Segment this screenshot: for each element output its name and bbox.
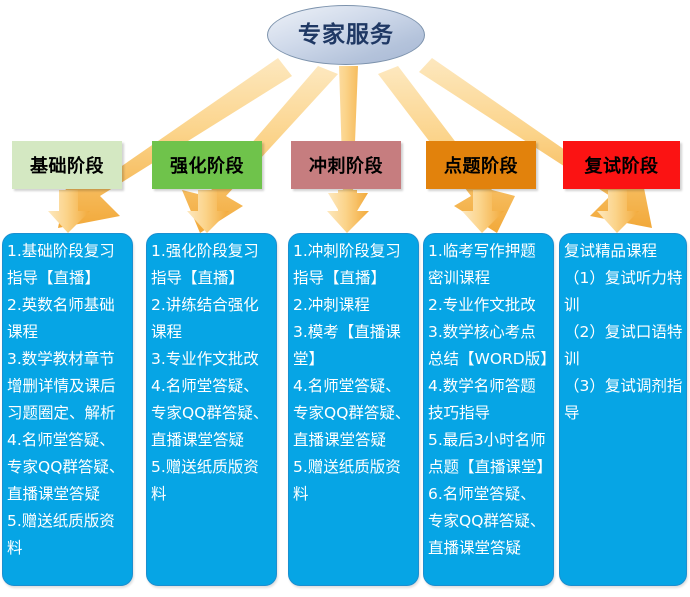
content-box-reexam: 复试精品课程 （1）复试听力特训 （2）复试口语特训 （3）复试调剂指导 [559, 233, 687, 586]
content-item: 4.名师堂答疑、专家QQ群答疑、直播课堂答疑 [293, 373, 415, 454]
stage-box-sprint[interactable]: 冲刺阶段 [291, 141, 401, 189]
content-item: 3.数学核心考点总结【WORD版】 [428, 319, 550, 373]
stage-label: 点题阶段 [444, 152, 518, 178]
content-box-intensive: 1.强化阶段复习指导【直播】 2.讲练结合强化课程 3.专业作文批改 4.名师堂… [146, 233, 277, 586]
content-item: 复试精品课程 [564, 238, 683, 265]
content-item: 1.临考写作押题密训课程 [428, 238, 550, 292]
content-item: 5.赠送纸质版资料 [7, 508, 129, 562]
diagram-canvas: 专家服务 基础阶段 强化阶段 冲刺阶段 点题阶段 复试阶段 1.基础阶段复习指导… [0, 0, 690, 597]
root-node-expert-service: 专家服务 [267, 5, 425, 65]
content-item: 2.冲刺课程 [293, 292, 415, 319]
stage-box-reexam[interactable]: 复试阶段 [563, 141, 680, 189]
content-item: 4.数学名师答题技巧指导 [428, 373, 550, 427]
content-item: 2.讲练结合强化课程 [151, 292, 273, 346]
stage-label: 冲刺阶段 [309, 152, 383, 178]
content-box-sprint: 1.冲刺阶段复习指导【直播】 2.冲刺课程 3.模考【直播课堂】 4.名师堂答疑… [288, 233, 419, 586]
stage-label: 强化阶段 [170, 152, 244, 178]
root-node-label: 专家服务 [298, 24, 394, 47]
stage-label: 基础阶段 [30, 152, 104, 178]
content-item: （1）复试听力特训 [564, 265, 683, 319]
content-item: 4.名师堂答疑、专家QQ群答疑、直播课堂答疑 [151, 373, 273, 454]
content-box-foundation: 1.基础阶段复习指导【直播】 2.英数名师基础课程 3.数学教材章节增删详情及课… [2, 233, 133, 586]
content-item: 1.冲刺阶段复习指导【直播】 [293, 238, 415, 292]
content-item: 6.名师堂答疑、专家QQ群答疑、直播课堂答疑 [428, 481, 550, 562]
content-item: 1.基础阶段复习指导【直播】 [7, 238, 129, 292]
content-item: 3.模考【直播课堂】 [293, 319, 415, 373]
content-item: （3）复试调剂指导 [564, 373, 683, 427]
stage-box-key-points[interactable]: 点题阶段 [426, 141, 536, 189]
content-box-key-points: 1.临考写作押题密训课程 2.专业作文批改 3.数学核心考点总结【WORD版】 … [423, 233, 554, 586]
stage-box-foundation[interactable]: 基础阶段 [12, 141, 122, 189]
content-item: 2.专业作文批改 [428, 292, 550, 319]
content-item: 1.强化阶段复习指导【直播】 [151, 238, 273, 292]
content-item: （2）复试口语特训 [564, 319, 683, 373]
content-item: 5.最后3小时名师点题【直播课堂】 [428, 427, 550, 481]
stage-label: 复试阶段 [585, 152, 659, 178]
content-item: 4.名师堂答疑、专家QQ群答疑、直播课堂答疑 [7, 427, 129, 508]
stage-box-intensive[interactable]: 强化阶段 [152, 141, 262, 189]
content-item: 5.赠送纸质版资料 [293, 454, 415, 508]
content-item: 2.英数名师基础课程 [7, 292, 129, 346]
content-item: 5.赠送纸质版资料 [151, 454, 273, 508]
content-item: 3.专业作文批改 [151, 346, 273, 373]
content-item: 3.数学教材章节增删详情及课后习题圈定、解析 [7, 346, 129, 427]
